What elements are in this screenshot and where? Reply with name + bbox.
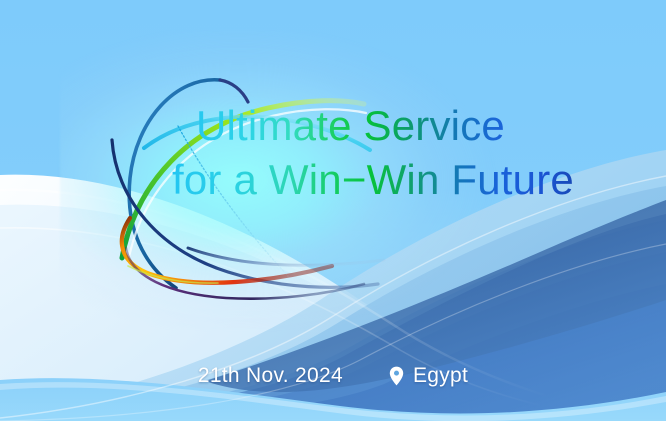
headline-line-1: Ultimate Service	[196, 104, 626, 147]
headline: Ultimate Service for a Win−Win Future	[196, 104, 626, 202]
headline-line-2: for a Win−Win Future	[172, 158, 626, 201]
event-meta: 21th Nov. 2024 Egypt	[0, 358, 666, 394]
map-pin-icon	[389, 366, 404, 386]
event-location-label: Egypt	[413, 364, 468, 388]
event-date: 21th Nov. 2024	[198, 364, 343, 388]
event-location: Egypt	[389, 364, 468, 388]
event-banner: Ultimate Service for a Win−Win Future 21…	[0, 0, 666, 421]
